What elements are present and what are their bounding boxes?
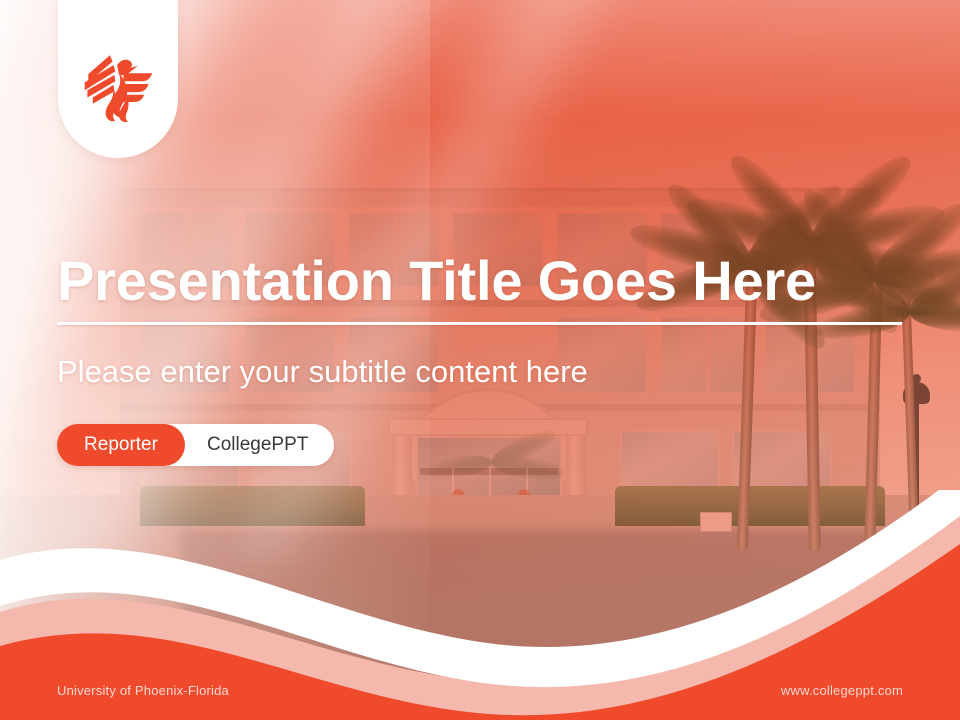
reporter-pill[interactable]: Reporter CollegePPT: [57, 424, 334, 466]
university-logo-badge: [58, 0, 178, 158]
page-title: Presentation Title Goes Here: [57, 249, 917, 313]
page-subtitle: Please enter your subtitle content here: [57, 352, 588, 392]
reporter-label: Reporter: [57, 424, 185, 466]
footer-website[interactable]: www.collegeppt.com: [781, 683, 903, 698]
title-divider-rule: [57, 322, 902, 325]
phoenix-bird-logo-icon: [73, 39, 163, 129]
footer-institution: University of Phoenix-Florida: [57, 683, 229, 698]
reporter-name: CollegePPT: [185, 434, 334, 456]
presentation-title-slide: Presentation Title Goes Here Please ente…: [0, 0, 960, 720]
